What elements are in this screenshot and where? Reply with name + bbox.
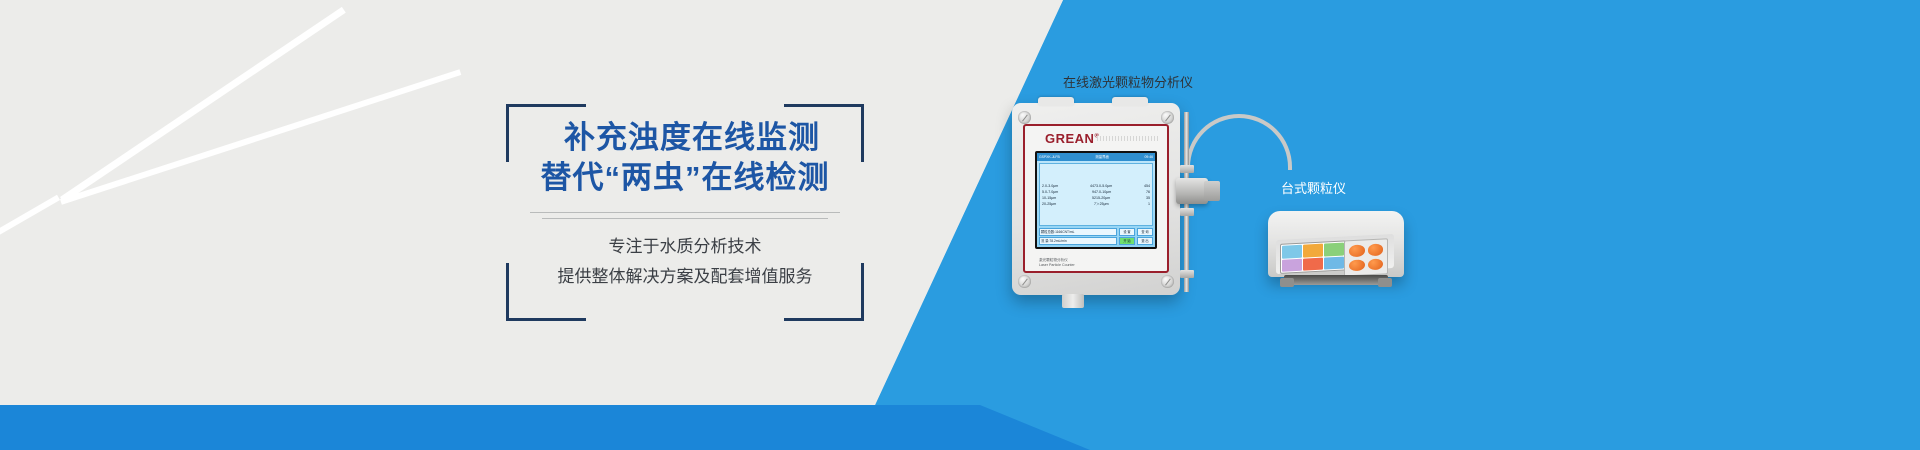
callout-label-analyzer: 在线激光颗粒物分析仪 — [1063, 72, 1193, 91]
headline-panel: 补充浊度在线监测 替代“两虫”在线检测 专注于水质分析技术 提供整体解决方案及配… — [506, 104, 864, 321]
lcd-title-left: GSPXK-JLFB — [1039, 153, 1060, 161]
keypad-button-4[interactable] — [1368, 258, 1384, 270]
analyzer-screw-top-left — [1018, 111, 1031, 124]
analyzer-vent-grille — [1097, 136, 1159, 141]
page-subtitle: 专注于水质分析技术 提供整体解决方案及配套增值服务 — [506, 232, 864, 292]
lcd-button-exit[interactable]: 退 出 — [1137, 237, 1153, 245]
lcd-tile-2 — [1303, 244, 1323, 258]
benchtop-lcd-screen[interactable] — [1280, 240, 1346, 273]
sensor-fitting-bottom — [1180, 270, 1194, 278]
lcd-total-count-field: 颗粒总数:1166CNT/mL — [1039, 228, 1117, 236]
sensor-fitting-top — [1180, 165, 1194, 173]
frame-corner-top-left-horizontal — [506, 104, 586, 107]
analyzer-lcd-screen[interactable]: GSPXK-JLFB 测量界面 09:46 2.0-3.0μm 447 3.0-… — [1035, 151, 1157, 249]
product-image-benchtop-particle-counter — [1268, 205, 1404, 287]
lcd-status-row-2: 流 量:78.2mL/min 开 始 退 出 — [1039, 237, 1153, 245]
frame-corner-bottom-right-horizontal — [784, 318, 864, 321]
background-blue-bottom-band — [0, 405, 960, 450]
lcd-button-start[interactable]: 开 始 — [1119, 237, 1135, 245]
divider-line-bottom — [542, 218, 828, 219]
headline-line-1: 补充浊度在线监测 — [506, 118, 864, 158]
lcd-inner: GSPXK-JLFB 测量界面 09:46 2.0-3.0μm 447 3.0-… — [1037, 153, 1155, 247]
particle-count: 1 — [1148, 201, 1150, 207]
divider-line-top — [530, 212, 840, 213]
lcd-tile-5 — [1303, 257, 1323, 271]
promo-banner: 补充浊度在线监测 替代“两虫”在线检测 专注于水质分析技术 提供整体解决方案及配… — [0, 0, 1920, 450]
analyzer-screw-bottom-left — [1018, 275, 1031, 288]
analyzer-cable-gland — [1062, 294, 1084, 308]
lcd-tile-3 — [1324, 243, 1344, 257]
benchtop-sample-tray — [1284, 275, 1388, 285]
keypad-button-2[interactable] — [1368, 243, 1384, 255]
analyzer-front-face: GREAN® GSPXK-JLFB 测量界面 09:46 2.0-3.0μm 4… — [1023, 124, 1169, 273]
benchtop-foot-left — [1280, 278, 1294, 287]
analyzer-top-tab-left — [1038, 97, 1074, 106]
product-image-online-laser-particle-analyzer: GREAN® GSPXK-JLFB 测量界面 09:46 2.0-3.0μm 4… — [1012, 103, 1180, 295]
analyzer-model-en: Laser Particle Counter — [1039, 263, 1075, 268]
keypad-button-3[interactable] — [1349, 259, 1365, 271]
lcd-status-row-1: 颗粒总数:1166CNT/mL 设 置 查 询 — [1039, 228, 1153, 236]
lcd-flow-rate-field: 流 量:78.2mL/min — [1039, 237, 1117, 245]
lcd-footer: 颗粒总数:1166CNT/mL 设 置 查 询 流 量:78.2mL/min 开… — [1039, 228, 1153, 245]
headline-divider — [506, 212, 864, 219]
lcd-title-bar: GSPXK-JLFB 测量界面 09:46 — [1037, 153, 1155, 161]
keypad-button-1[interactable] — [1349, 244, 1365, 256]
benchtop-control-panel — [1276, 234, 1394, 274]
particle-range: 20-25μm — [1042, 201, 1057, 207]
benchtop-body — [1268, 211, 1404, 277]
table-row: 20-25μm 7 — [1042, 201, 1096, 207]
subtitle-line-1: 专注于水质分析技术 — [506, 232, 864, 262]
particle-range: ＞25μm — [1096, 201, 1110, 207]
table-row: ＞25μm 1 — [1096, 201, 1150, 207]
benchtop-foot-right — [1378, 278, 1392, 287]
analyzer-brand-text: GREAN — [1045, 131, 1094, 146]
analyzer-model-label: 激光颗粒物分析仪 Laser Particle Counter — [1039, 258, 1075, 268]
lcd-title-center: 测量界面 — [1095, 153, 1109, 161]
callout-label-benchtop: 台式颗粒仪 — [1281, 178, 1346, 197]
lcd-title-right: 09:46 — [1144, 153, 1153, 161]
analyzer-brand-logo: GREAN® — [1045, 131, 1099, 146]
frame-corner-bottom-left-horizontal — [506, 318, 586, 321]
analyzer-top-tab-right — [1112, 97, 1148, 106]
lcd-tile-6 — [1324, 256, 1344, 270]
lcd-tile-4 — [1282, 258, 1302, 272]
analyzer-screw-top-right — [1161, 111, 1174, 124]
lcd-button-settings[interactable]: 设 置 — [1119, 228, 1135, 236]
benchtop-keypad[interactable] — [1344, 238, 1388, 276]
subtitle-line-2: 提供整体解决方案及配套增值服务 — [506, 262, 864, 292]
lcd-button-query[interactable]: 查 询 — [1137, 228, 1153, 236]
frame-corner-top-right-horizontal — [784, 104, 864, 107]
headline-line-2: 替代“两虫”在线检测 — [506, 158, 864, 198]
sensor-fitting-middle — [1180, 208, 1194, 216]
sensor-end-cap — [1204, 181, 1220, 201]
lcd-tile-1 — [1282, 245, 1302, 259]
analyzer-screw-bottom-right — [1161, 275, 1174, 288]
lcd-particle-table: 2.0-3.0μm 447 3.0-5.0μm 454 5.0-7.0μm 94 — [1039, 163, 1153, 226]
page-title: 补充浊度在线监测 替代“两虫”在线检测 — [506, 118, 864, 198]
